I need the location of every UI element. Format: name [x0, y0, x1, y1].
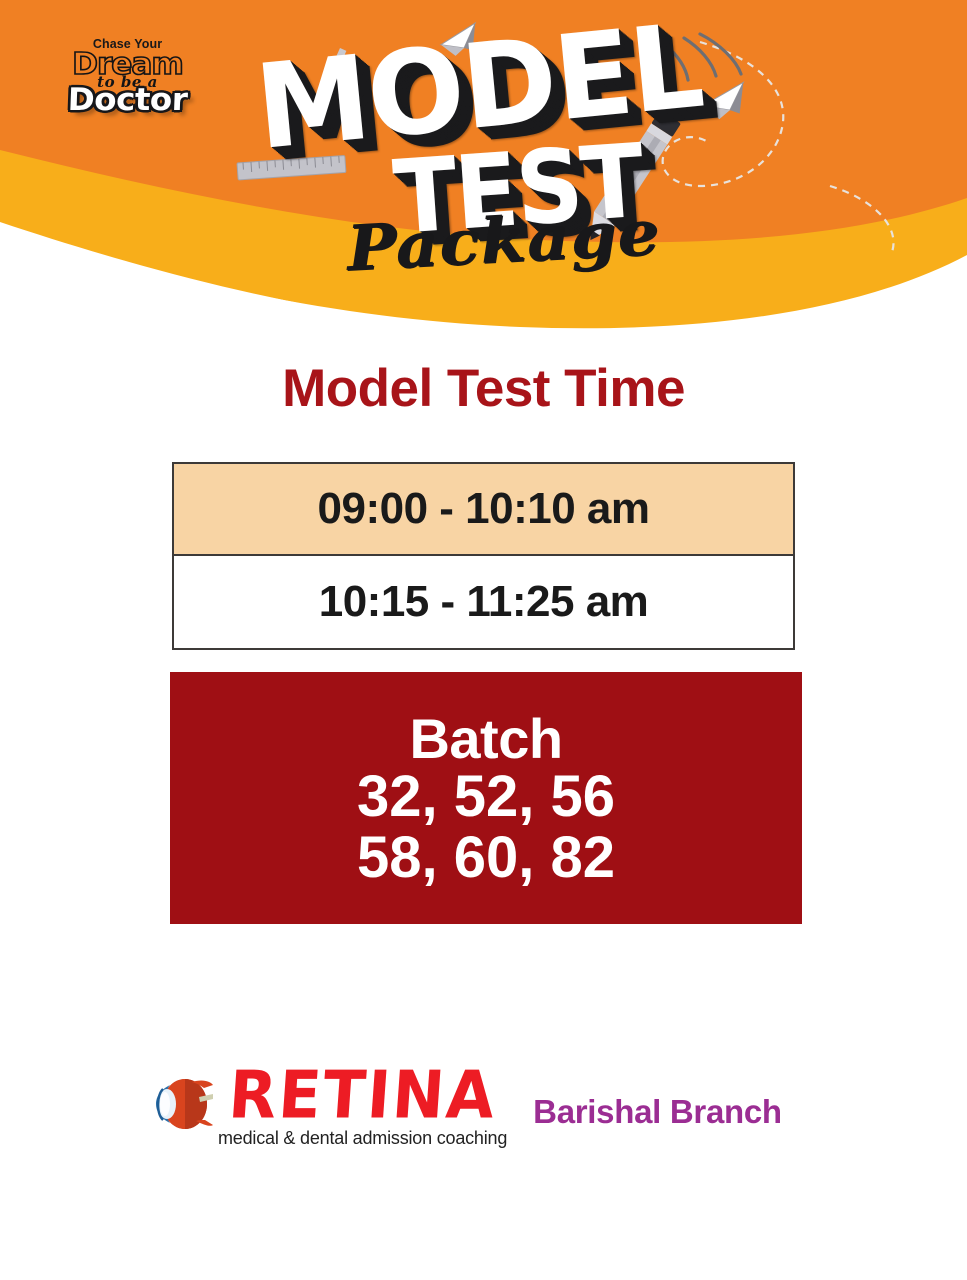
- retina-brand-block: RETINA medical & dental admission coachi…: [218, 1065, 507, 1149]
- retina-footer-logo: RETINA medical & dental admission coachi…: [152, 1065, 852, 1190]
- retina-brand-name: RETINA: [227, 1063, 499, 1126]
- logo-line-doctor: Doctor: [56, 85, 199, 116]
- header-banner: Chase Your Dream to be a Doctor MODEL TE…: [0, 0, 967, 330]
- model-test-time-table: 09:00 - 10:10 am 10:15 - 11:25 am: [172, 462, 795, 650]
- batch-label: Batch: [409, 710, 562, 767]
- model-test-poster: Chase Your Dream to be a Doctor MODEL TE…: [0, 0, 967, 1280]
- batch-numbers-1: 32, 52, 56: [357, 767, 615, 828]
- batch-numbers-2: 58, 60, 82: [357, 828, 615, 889]
- time-slot-1: 09:00 - 10:10 am: [318, 484, 650, 534]
- batch-box: Batch 32, 52, 56 58, 60, 82: [170, 672, 802, 924]
- eye-icon: [152, 1075, 214, 1133]
- time-slot-2: 10:15 - 11:25 am: [319, 577, 649, 627]
- table-row: 09:00 - 10:10 am: [174, 464, 793, 556]
- table-row: 10:15 - 11:25 am: [174, 556, 793, 648]
- logo-line-dream: Dream: [57, 50, 197, 80]
- model-test-package-wordmark: MODEL TEST Package: [250, 40, 720, 255]
- page-title: Model Test Time: [0, 358, 967, 419]
- branch-name: Barishal Branch: [533, 1093, 782, 1131]
- chase-your-dream-logo: Chase Your Dream to be a Doctor: [60, 38, 195, 123]
